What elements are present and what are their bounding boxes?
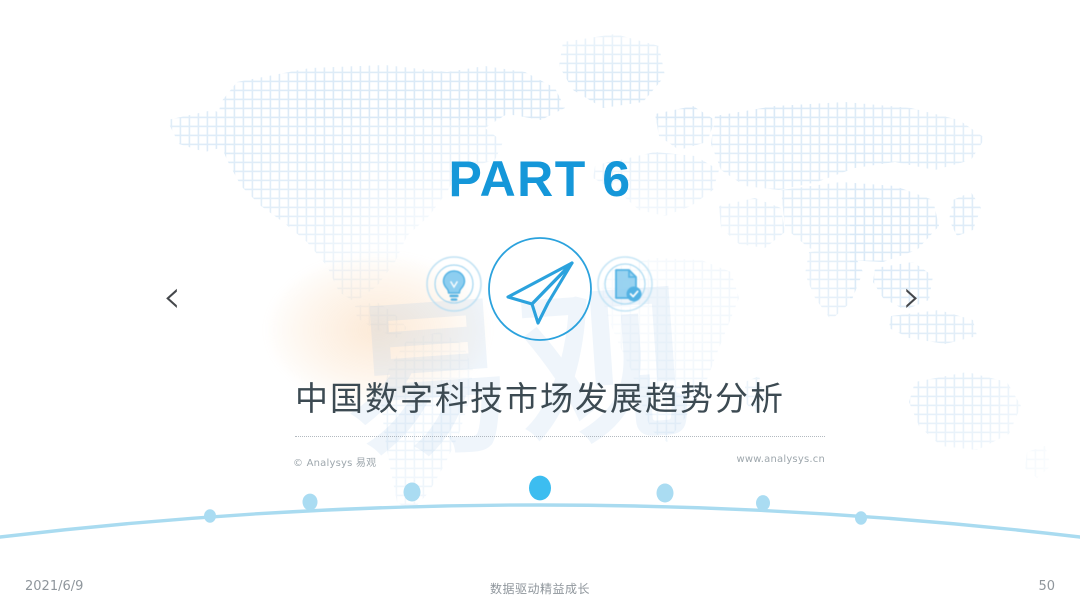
progress-dot[interactable] [529, 476, 551, 501]
paper-plane-icon [486, 235, 594, 343]
paper-plane-icon-svg [486, 235, 594, 343]
document-check-icon [596, 255, 654, 313]
website-url[interactable]: www.analysys.cn [0, 454, 825, 465]
progress-arc [0, 465, 1080, 545]
presentation-slide: 易观 ‹ › PART 6 [0, 0, 1080, 608]
progress-dot[interactable] [204, 509, 216, 522]
slide-footer: 2021/6/9 数据驱动精益成长 50 [0, 568, 1080, 608]
lightbulb-icon [425, 255, 483, 313]
lightbulb-icon-svg [425, 255, 483, 313]
progress-dot[interactable] [657, 483, 674, 502]
progress-dot[interactable] [404, 482, 421, 501]
progress-arc-svg [0, 465, 1080, 545]
document-check-icon-svg [596, 255, 654, 313]
progress-dot[interactable] [855, 511, 867, 524]
progress-dot[interactable] [756, 495, 770, 511]
progress-dot[interactable] [303, 494, 318, 511]
slide-title: 中国数字科技市场发展趋势分析 [0, 372, 1080, 420]
icon-cluster [0, 235, 1080, 350]
part-label: PART 6 [0, 150, 1080, 208]
footer-tagline: 数据驱动精益成长 [0, 580, 1080, 597]
progress-dots[interactable] [204, 476, 867, 525]
divider-line [295, 436, 825, 438]
footer-page-number: 50 [1038, 579, 1055, 594]
